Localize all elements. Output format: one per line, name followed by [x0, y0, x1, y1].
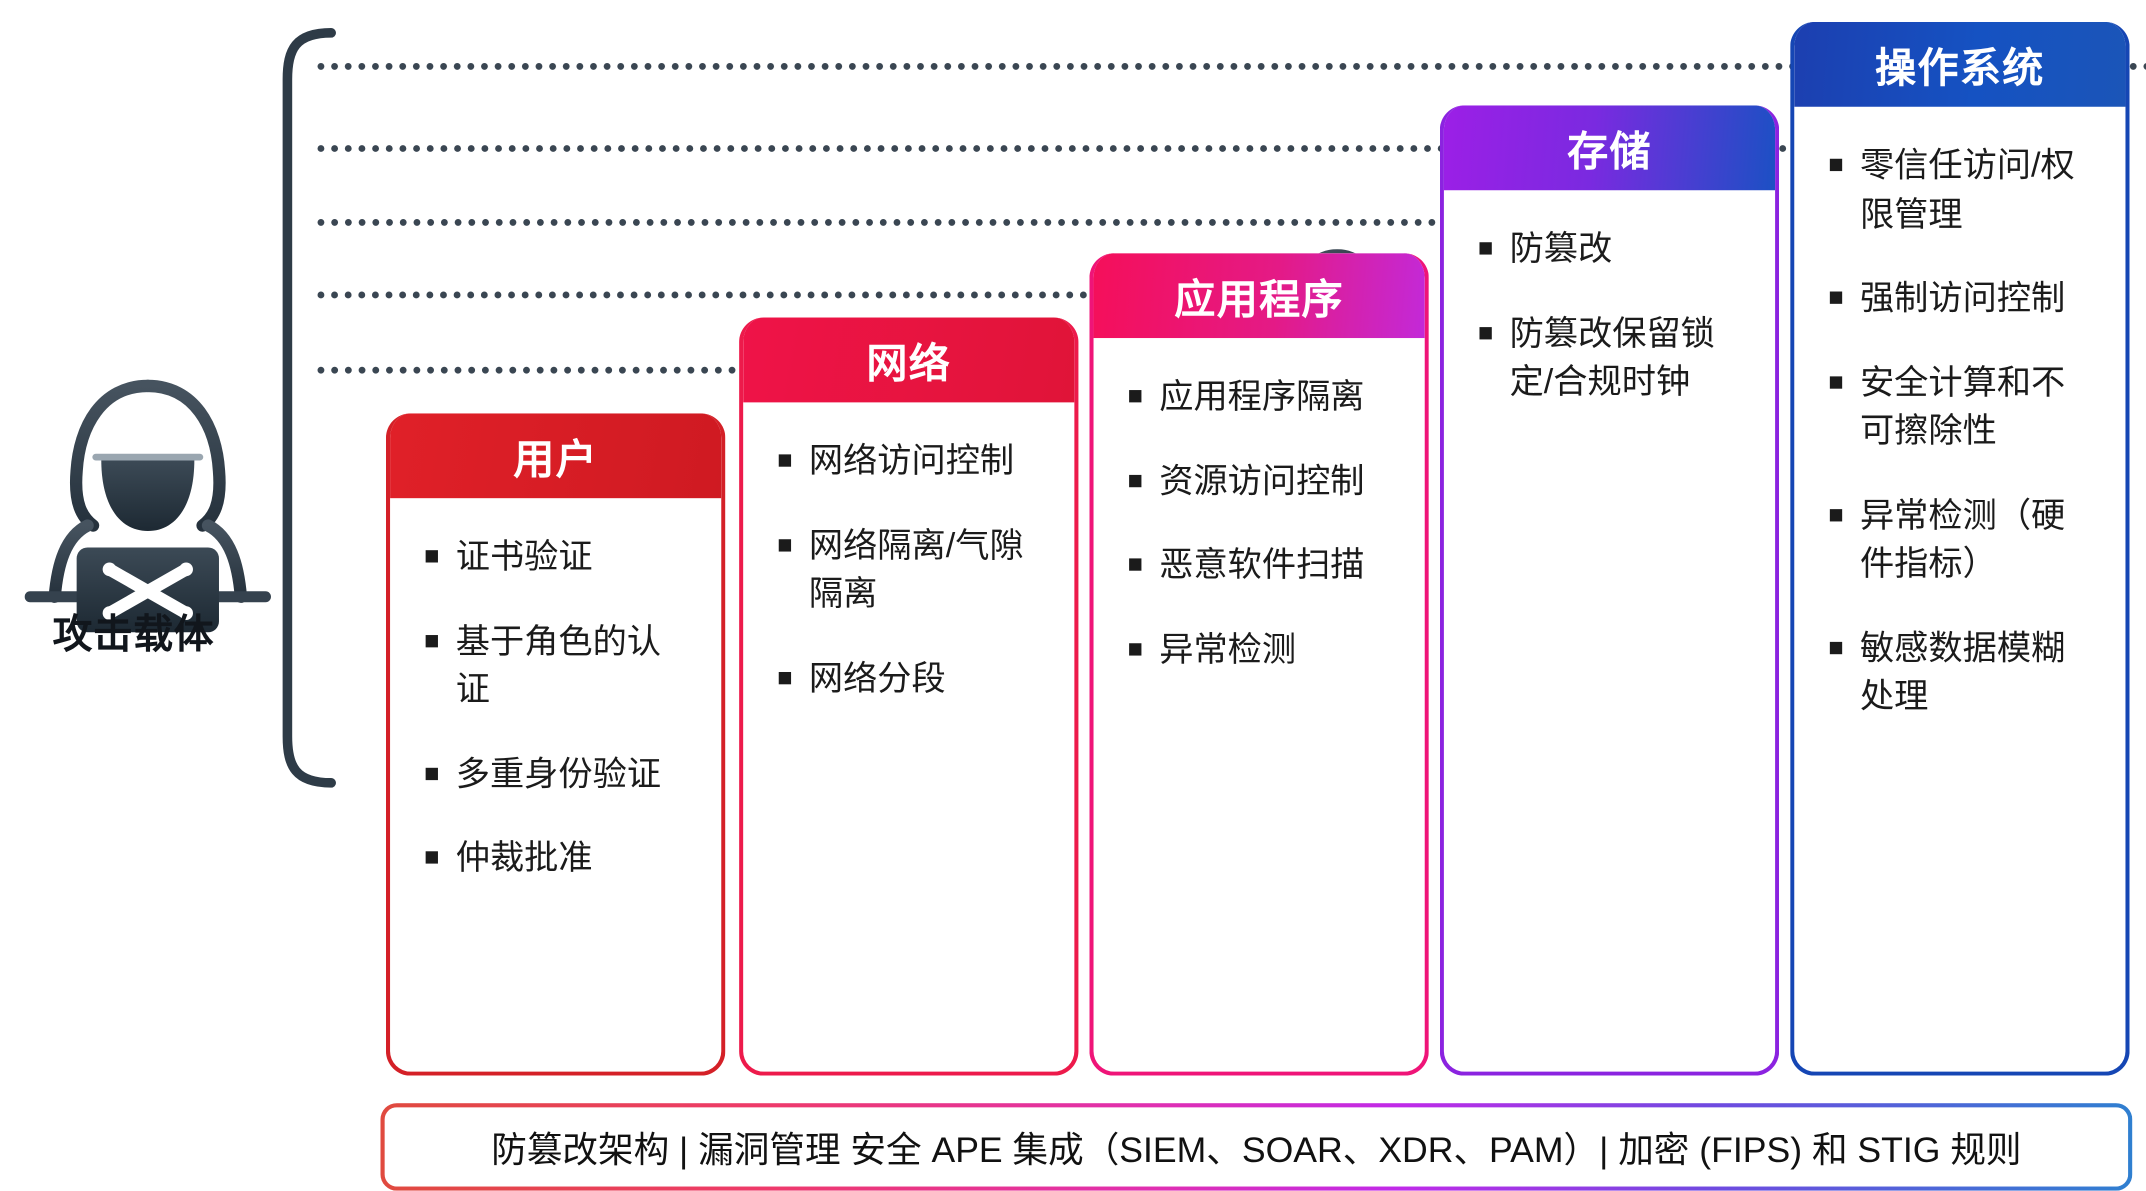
layer-items-application: 应用程序隔离 资源访问控制 恶意软件扫描 异常检测	[1094, 338, 1425, 724]
bullet-square-icon	[1830, 159, 1842, 171]
list-item: 仲裁批准	[426, 835, 694, 884]
foundation-banner: 防篡改架构 | 漏洞管理 安全 APE 集成（SIEM、SOAR、XDR、PAM…	[380, 1103, 2132, 1191]
bullet-square-icon	[779, 454, 791, 466]
bullet-square-icon	[1129, 558, 1141, 570]
bullet-square-icon	[1830, 376, 1842, 388]
foundation-banner-text: 防篡改架构 | 漏洞管理 安全 APE 集成（SIEM、SOAR、XDR、PAM…	[491, 1122, 2021, 1173]
layer-title-os: 操作系统	[1794, 22, 2125, 107]
layer-items-os: 零信任访问/权限管理 强制访问控制 安全计算和不可擦除性 异常检测（硬件指标） …	[1794, 107, 2125, 771]
layer-items-user: 证书验证 基于角色的认证 多重身份验证 仲裁批准	[390, 498, 721, 933]
layer-title-network: 网络	[743, 318, 1074, 403]
list-item: 基于角色的认证	[426, 618, 694, 715]
list-item: 敏感数据模糊处理	[1830, 625, 2098, 722]
list-item: 强制访问控制	[1830, 275, 2098, 324]
list-item: 安全计算和不可擦除性	[1830, 359, 2098, 456]
bullet-square-icon	[426, 851, 438, 863]
layer-card-network[interactable]: 网络 网络访问控制 网络隔离/气隙隔离 网络分段	[739, 318, 1078, 1076]
scope-bracket	[268, 25, 350, 791]
bullet-square-icon	[1479, 326, 1491, 338]
layer-card-storage[interactable]: 存储 防篡改 防篡改保留锁定/合规时钟	[1440, 105, 1779, 1075]
bullet-square-icon	[426, 767, 438, 779]
layer-card-user[interactable]: 用户 证书验证 基于角色的认证 多重身份验证 仲裁批准	[386, 413, 725, 1075]
layer-items-storage: 防篡改 防篡改保留锁定/合规时钟	[1444, 190, 1775, 456]
list-item: 证书验证	[426, 534, 694, 583]
bullet-square-icon	[1479, 242, 1491, 254]
bullet-square-icon	[426, 634, 438, 646]
security-layers-diagram: 攻击载体 用户 证书验证 基于角色的认证 多重身份验证 仲裁批准 网络	[0, 0, 2146, 916]
list-item: 应用程序隔离	[1129, 374, 1397, 423]
list-item: 多重身份验证	[426, 751, 694, 800]
layer-items-network: 网络访问控制 网络隔离/气隙隔离 网络分段	[743, 402, 1074, 752]
bullet-square-icon	[426, 550, 438, 562]
list-item: 防篡改	[1479, 226, 1747, 275]
layer-card-application[interactable]: 应用程序 应用程序隔离 资源访问控制 恶意软件扫描 异常检测	[1089, 253, 1428, 1076]
bullet-square-icon	[1830, 292, 1842, 304]
layer-card-os[interactable]: 操作系统 零信任访问/权限管理 强制访问控制 安全计算和不可擦除性 异常检测（硬…	[1790, 22, 2129, 1076]
list-item: 网络分段	[779, 655, 1047, 704]
list-item: 资源访问控制	[1129, 458, 1397, 507]
list-item: 防篡改保留锁定/合规时钟	[1479, 310, 1747, 407]
attacker-label: 攻击载体	[0, 602, 267, 659]
bullet-square-icon	[779, 671, 791, 683]
list-item: 异常检测	[1129, 626, 1397, 675]
list-item: 网络隔离/气隙隔离	[779, 522, 1047, 619]
bullet-square-icon	[1129, 390, 1141, 402]
list-item: 网络访问控制	[779, 438, 1047, 487]
bullet-square-icon	[1129, 643, 1141, 655]
layer-title-application: 应用程序	[1094, 253, 1425, 338]
bullet-square-icon	[1129, 474, 1141, 486]
bullet-square-icon	[779, 539, 791, 551]
list-item: 零信任访问/权限管理	[1830, 142, 2098, 239]
bullet-square-icon	[1830, 508, 1842, 520]
layer-title-user: 用户	[390, 413, 721, 498]
bullet-square-icon	[1830, 641, 1842, 653]
list-item: 恶意软件扫描	[1129, 542, 1397, 591]
layer-title-storage: 存储	[1444, 105, 1775, 190]
list-item: 异常检测（硬件指标）	[1830, 492, 2098, 589]
